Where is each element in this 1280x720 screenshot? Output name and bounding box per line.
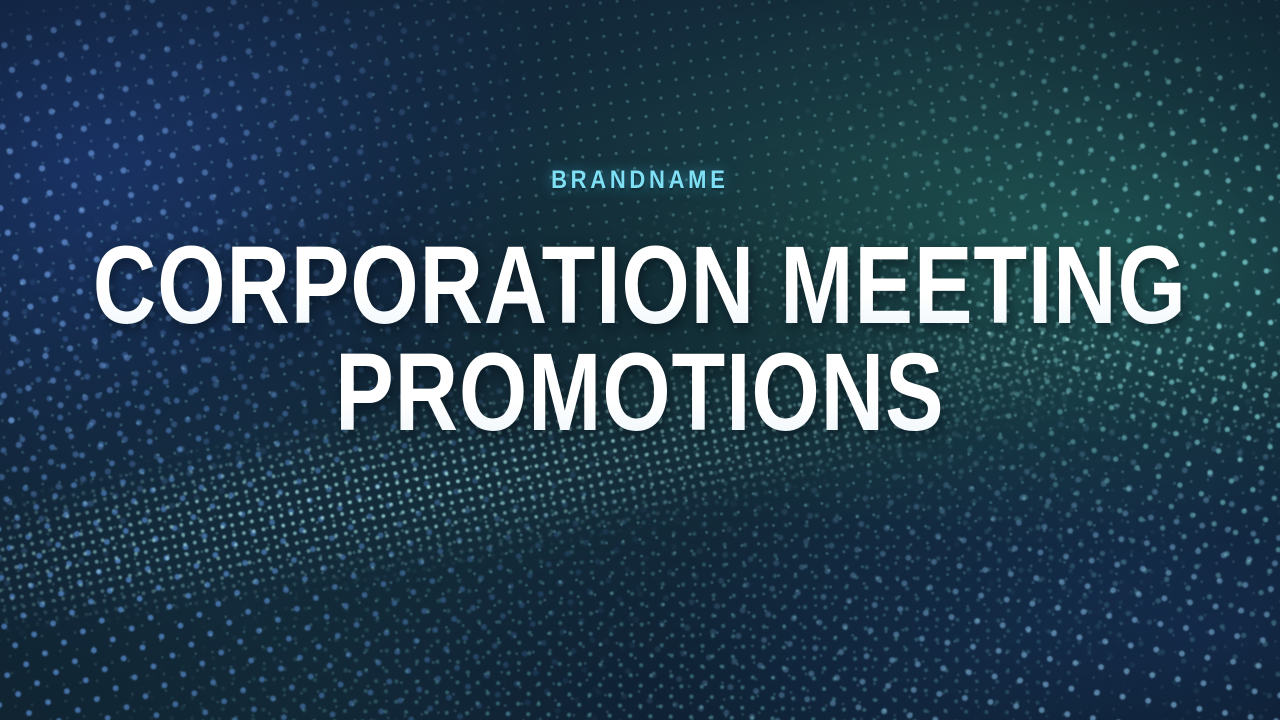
headline-block: CORPORATION MEETING PROMOTIONS: [0, 235, 1280, 443]
slide-content: BRANDNAME CORPORATION MEETING PROMOTIONS: [0, 0, 1280, 720]
brand-name-label: BRANDNAME: [551, 168, 728, 193]
headline-line-1: CORPORATION MEETING: [93, 235, 1187, 336]
headline-line-2: PROMOTIONS: [93, 342, 1187, 443]
presentation-slide: BRANDNAME CORPORATION MEETING PROMOTIONS: [0, 0, 1280, 720]
